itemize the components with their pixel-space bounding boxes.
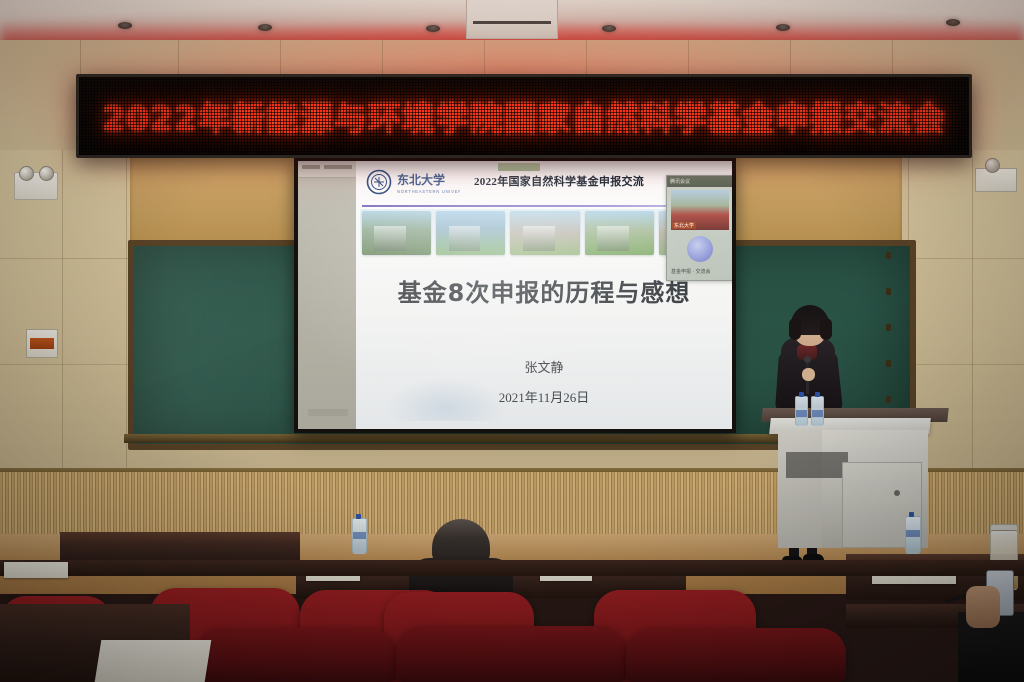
meeting-window-footer: 基金申报 · 交流会 [671,268,710,275]
chalkboard-clip [886,360,891,367]
projection-screen-frame: 东北大学 NORTHEASTERN UNIVERSITY 2022年国家自然科学… [294,157,736,433]
campus-photo [510,211,579,255]
led-banner: 2022年新能源与环境学院国家自然科学基金申报交流会 [76,74,972,158]
led-banner-panel: 2022年新能源与环境学院国家自然科学基金申报交流会 [79,77,969,155]
podium-cabinet-handle-icon[interactable] [894,490,900,496]
chalkboard-clip [886,396,891,403]
attendee-hand [966,586,1000,628]
ceiling-spotlight [776,24,790,31]
wall-tile-seam [972,150,973,480]
chalkboard-clip [886,324,891,331]
ceiling-spotlight [118,22,132,29]
emergency-lamp-icon [19,166,34,181]
svg-text:东北大学: 东北大学 [397,172,445,187]
water-bottle[interactable] [352,518,367,554]
paper-sheet[interactable] [95,640,212,682]
ceiling-spotlight [602,25,616,32]
ceiling-spotlight [426,25,440,32]
wall-tile-seam [62,150,63,480]
speaker-hair [820,318,832,340]
water-bottle[interactable] [905,516,921,554]
emergency-light [14,172,58,200]
university-logo: 东北大学 NORTHEASTERN UNIVERSITY [364,169,460,197]
audience-desk-top [60,532,300,542]
wall-panel-knob-icon[interactable] [985,158,1000,173]
meeting-participant-name: 东北大学 [672,222,696,229]
speaker-hands [802,368,815,381]
chalkboard-clip [886,288,891,295]
paper-sheet[interactable] [4,562,68,578]
ceiling-spotlight [946,19,960,26]
slide-author: 张文静 [356,357,732,376]
chalkboard-clip [886,252,891,259]
ceiling-spotlight [258,24,272,31]
meeting-window-title: 腾讯会议 [670,178,690,185]
campus-photo [362,211,431,255]
auditorium-seat[interactable] [626,628,846,682]
wall-tile-seam [126,150,127,480]
lecture-hall-photo: 东北大学 NORTHEASTERN UNIVERSITY 2022年国家自然科学… [0,0,1024,682]
row-divider-ledge [0,560,1024,576]
titlebar-chip [302,165,320,169]
screen-status-chip [498,163,540,171]
svg-text:NORTHEASTERN UNIVERSITY: NORTHEASTERN UNIVERSITY [397,189,460,194]
led-banner-text: 2022年新能源与环境学院国家自然科学基金申报交流会 [79,92,969,140]
campus-photo [585,211,654,255]
slide-date: 2021年11月26日 [356,387,732,406]
ceiling-air-vent [466,0,558,39]
sidebar-footer-chip [308,409,348,416]
projection-screen[interactable]: 东北大学 NORTHEASTERN UNIVERSITY 2022年国家自然科学… [298,161,732,429]
campus-photo [436,211,505,255]
podium-front-panel [778,430,822,548]
meeting-avatar [687,236,713,262]
titlebar-chip [324,165,352,169]
speaker-hair [789,318,801,340]
video-meeting-window[interactable]: 腾讯会议 东北大学 基金申报 · 交流会 [666,175,732,281]
fire-alarm-box[interactable] [26,329,58,358]
presentation-app-sidebar[interactable] [298,161,356,429]
auditorium-seat[interactable] [196,628,396,682]
emergency-lamp-icon [39,166,54,181]
podium-shelf [786,452,848,478]
water-bottle[interactable] [795,396,808,426]
water-bottle[interactable] [811,396,824,426]
auditorium-seat[interactable] [396,626,626,682]
